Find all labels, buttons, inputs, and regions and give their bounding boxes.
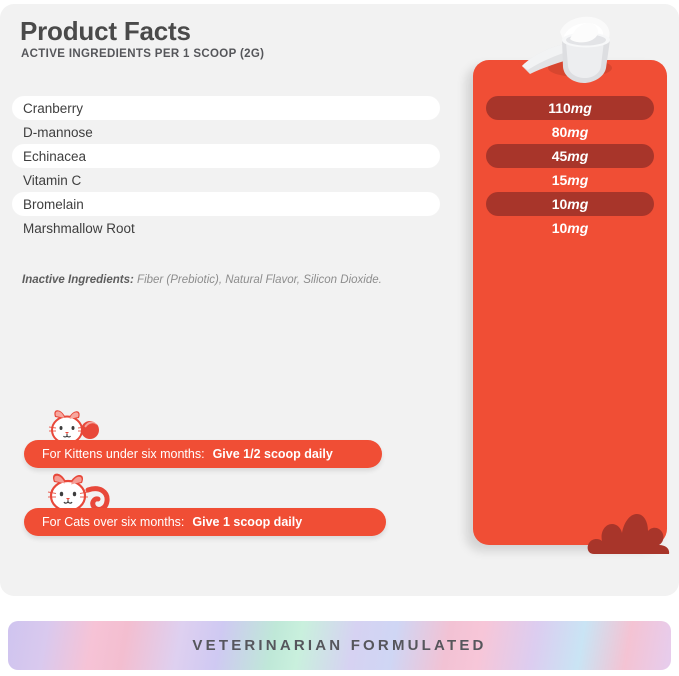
dose-unit: mg — [567, 196, 588, 212]
list-item: Bromelain — [12, 192, 440, 216]
dose-amount: 110 — [548, 100, 571, 116]
list-item: Marshmallow Root — [12, 216, 440, 240]
dose-value-row: 110mg — [486, 96, 654, 120]
ingredient-name: Vitamin C — [23, 173, 81, 188]
dose-unit: mg — [567, 220, 588, 236]
dose-value-row: 15mg — [486, 168, 654, 192]
inactive-ingredients-text: Fiber (Prebiotic), Natural Flavor, Silic… — [134, 274, 382, 286]
dose-amount: 45 — [552, 148, 568, 164]
dose-unit: mg — [567, 124, 588, 140]
dosage-value: Give 1/2 scoop daily — [213, 447, 333, 461]
dose-unit: mg — [571, 100, 592, 116]
page-title: Product Facts — [20, 16, 191, 47]
list-item: Cranberry — [12, 96, 440, 120]
dosage-instruction-cat: For Cats over six months: Give 1 scoop d… — [24, 508, 386, 536]
ingredient-name: D-mannose — [23, 125, 93, 140]
list-item: Vitamin C — [12, 168, 440, 192]
dosage-value: Give 1 scoop daily — [192, 515, 302, 529]
dose-value-row: 80mg — [486, 120, 654, 144]
dose-amount: 10 — [552, 220, 568, 236]
list-item: D-mannose — [12, 120, 440, 144]
dose-value-row: 10mg — [486, 192, 654, 216]
inactive-ingredients: Inactive Ingredients: Fiber (Prebiotic),… — [22, 274, 382, 286]
dose-value-row: 10mg — [486, 216, 654, 240]
dose-unit: mg — [567, 148, 588, 164]
inactive-ingredients-label: Inactive Ingredients: — [22, 274, 134, 286]
ingredient-name: Bromelain — [23, 197, 84, 212]
footer-text: VETERINARIAN FORMULATED — [192, 637, 486, 654]
ingredient-name: Echinacea — [23, 149, 86, 164]
dosage-instruction-kitten: For Kittens under six months: Give 1/2 s… — [24, 440, 382, 468]
measuring-scoop-icon — [508, 6, 628, 86]
page-subtitle: ACTIVE INGREDIENTS PER 1 SCOOP (2G) — [21, 48, 264, 60]
dose-unit: mg — [567, 172, 588, 188]
dose-amount: 80 — [552, 124, 568, 140]
dose-amount: 10 — [552, 196, 568, 212]
dose-value-row: 45mg — [486, 144, 654, 168]
dose-amount: 15 — [552, 172, 568, 188]
paw-bush-icon — [586, 508, 676, 556]
dosage-label: For Kittens under six months: — [42, 447, 205, 461]
dosage-label: For Cats over six months: — [42, 515, 184, 529]
ingredient-name: Cranberry — [23, 101, 83, 116]
dose-value-list: 110mg 80mg 45mg 15mg 10mg 10mg — [486, 96, 654, 240]
ingredient-list: Cranberry D-mannose Echinacea Vitamin C … — [12, 96, 440, 240]
ingredient-name: Marshmallow Root — [23, 221, 135, 236]
veterinarian-formulated-banner: VETERINARIAN FORMULATED — [8, 621, 671, 670]
product-facts-panel: Product Facts ACTIVE INGREDIENTS PER 1 S… — [0, 0, 679, 676]
list-item: Echinacea — [12, 144, 440, 168]
